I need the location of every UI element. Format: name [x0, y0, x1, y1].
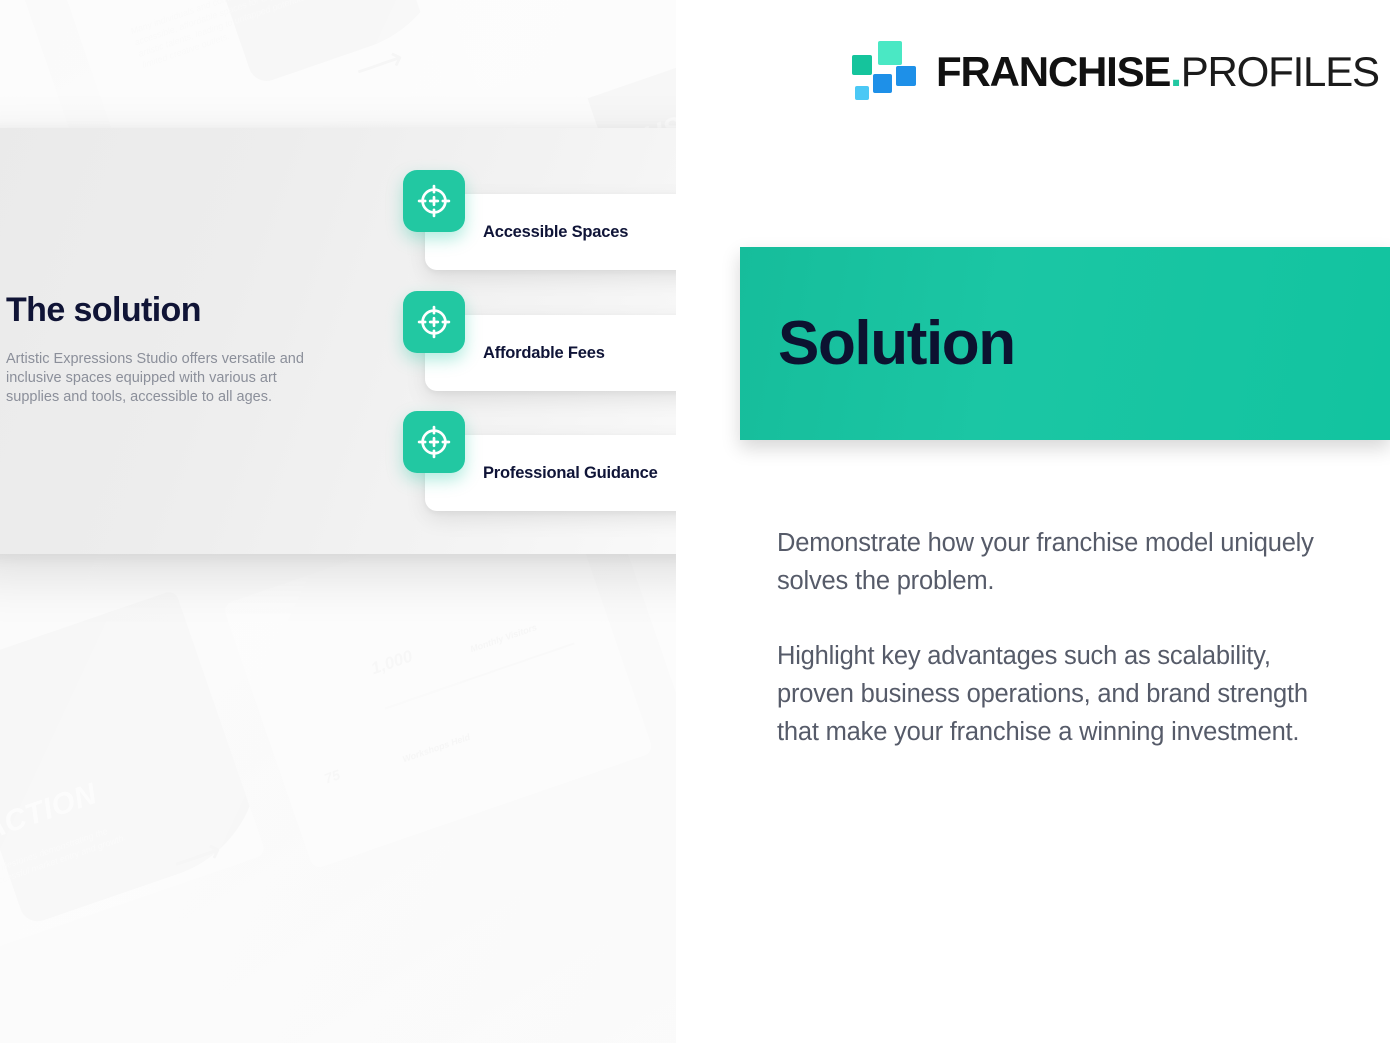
slide-preview-card: The solution Artistic Expressions Studio…	[0, 128, 676, 554]
logo-square-3	[896, 66, 916, 86]
body-paragraph-2: Highlight key advantages such as scalabi…	[777, 637, 1317, 751]
crosshair-target-icon	[403, 170, 465, 232]
wordmark-franchise: FRANCHISE	[936, 48, 1170, 96]
logo-square-2	[873, 74, 892, 93]
brand-logo: FRANCHISE.PROFILES	[852, 41, 1379, 103]
feature-label: Affordable Fees	[483, 344, 605, 363]
wordmark-dot: .	[1170, 48, 1180, 96]
logo-square-0	[852, 55, 872, 75]
slide-heading: The solution	[6, 291, 201, 330]
page-title: Solution	[778, 308, 1015, 379]
right-content-panel: FRANCHISE.PROFILES Solution Demonstrate …	[676, 0, 1390, 1043]
body-paragraph-1: Demonstrate how your franchise model uni…	[777, 524, 1317, 600]
slide-subheading: Artistic Expressions Studio offers versa…	[6, 350, 328, 407]
brand-wordmark: FRANCHISE.PROFILES	[936, 48, 1379, 96]
crosshair-target-icon	[403, 291, 465, 353]
logo-square-4	[855, 86, 869, 100]
feature-label: Accessible Spaces	[483, 223, 628, 242]
left-preview-panel: pitch deck ↷ spaces in urban and ... a s…	[0, 0, 676, 1043]
section-title-banner: Solution	[740, 247, 1390, 440]
logo-square-1	[878, 41, 902, 65]
feature-label: Professional Guidance	[483, 464, 658, 483]
squares-mosaic-logo-icon	[852, 41, 914, 103]
wordmark-profiles: PROFILES	[1181, 48, 1379, 96]
crosshair-target-icon	[403, 411, 465, 473]
